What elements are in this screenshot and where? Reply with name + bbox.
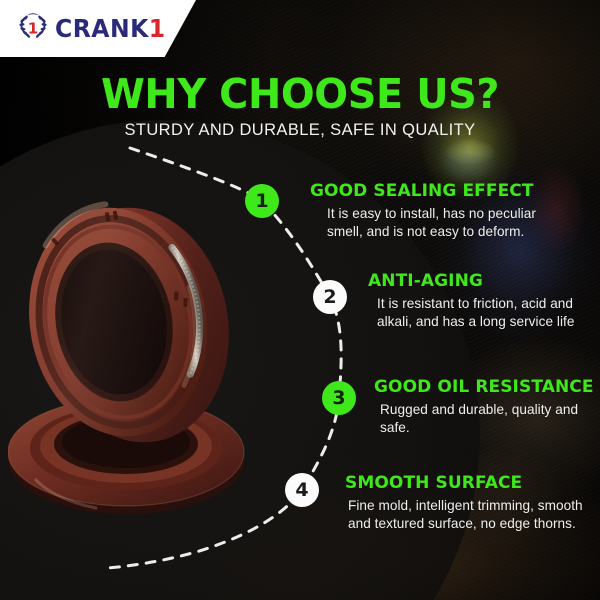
brand-logo-banner: 1 CRANK1 — [0, 0, 196, 57]
headline-text: WHY CHOOSE US? — [9, 74, 591, 115]
page-title: WHY CHOOSE US? — [0, 74, 600, 115]
feature-body-3: Rugged and durable, quality and safe. — [374, 401, 594, 437]
feature-badge-2: 2 — [313, 280, 347, 314]
feature-block-2: ANTI-AGING It is resistant to friction, … — [368, 272, 593, 331]
feature-title-2: ANTI-AGING — [368, 272, 593, 292]
feature-title-3: GOOD OIL RESISTANCE — [374, 378, 594, 398]
product-image-oil-seals — [8, 190, 268, 540]
feature-body-2: It is resistant to friction, acid and al… — [368, 295, 593, 331]
feature-badge-3: 3 — [322, 381, 356, 415]
feature-body-1: It is easy to install, has no peculiar s… — [310, 205, 560, 241]
feature-badge-1: 1 — [245, 184, 279, 218]
feature-block-4: SMOOTH SURFACE Fine mold, intelligent tr… — [345, 474, 595, 533]
brand-name-primary: CRANK — [55, 14, 149, 43]
feature-block-3: GOOD OIL RESISTANCE Rugged and durable, … — [374, 378, 594, 437]
feature-title-1: GOOD SEALING EFFECT — [310, 182, 560, 202]
brand-name-suffix: 1 — [149, 14, 166, 43]
promo-banner: 1 CRANK1 WHY CHOOSE US? STURDY AND DURAB… — [0, 0, 600, 600]
feature-block-1: GOOD SEALING EFFECT It is easy to instal… — [310, 182, 560, 241]
feature-title-4: SMOOTH SURFACE — [345, 474, 595, 494]
svg-text:1: 1 — [28, 19, 38, 37]
brand-wordmark: CRANK1 — [55, 16, 166, 41]
feature-body-4: Fine mold, intelligent trimming, smooth … — [345, 497, 595, 533]
subheadline-text: STURDY AND DURABLE, SAFE IN QUALITY — [0, 121, 600, 140]
laurel-wreath-icon: 1 — [14, 11, 52, 47]
feature-badge-4: 4 — [285, 473, 319, 507]
